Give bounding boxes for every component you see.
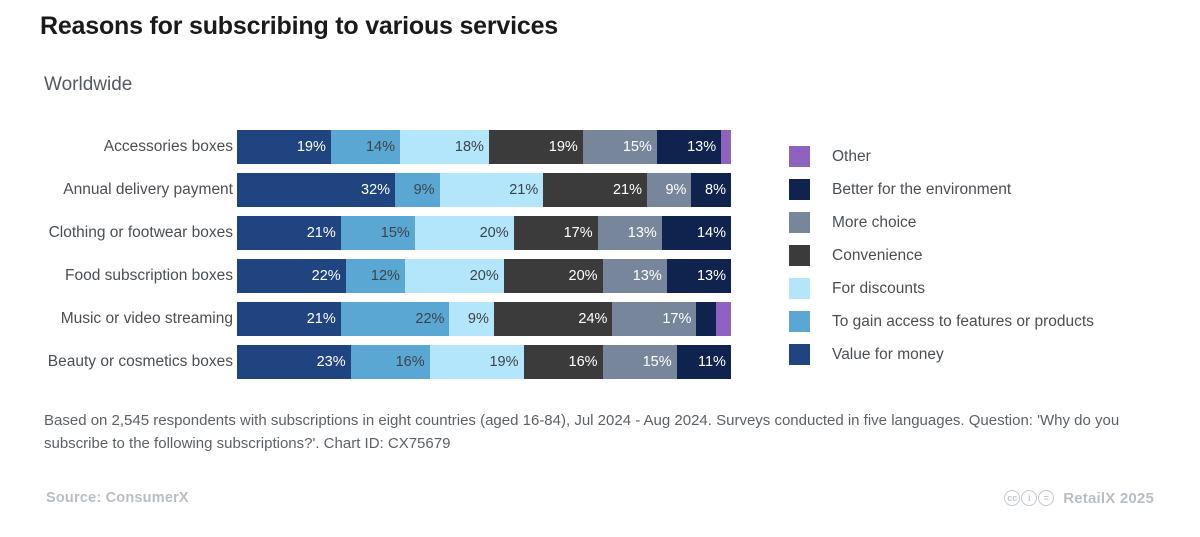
bar-segment: 20% (504, 259, 603, 293)
chart-page: Reasons for subscribing to various servi… (0, 0, 1200, 537)
bar-segment: 16% (351, 345, 430, 379)
bar-segment: 21% (237, 302, 341, 336)
bar-segment: 19% (430, 345, 524, 379)
bar-segment: 32% (237, 173, 395, 207)
legend-label: Other (832, 148, 871, 166)
stacked-bar-chart: Accessories boxes19%14%18%19%15%13%Annua… (0, 130, 760, 392)
page-footer: Source: ConsumerX cci= RetailX 2025 (0, 478, 1200, 518)
bar-segment: 22% (341, 302, 450, 336)
category-label: Accessories boxes (0, 138, 237, 156)
chart-row: Accessories boxes19%14%18%19%15%13% (0, 130, 760, 164)
legend-label: Convenience (832, 247, 922, 265)
bar-segment: 9% (647, 173, 691, 207)
creative-commons-icons: cci= (1004, 490, 1054, 506)
stacked-bar: 21%15%20%17%13%14% (237, 216, 731, 250)
bar-segment: 8% (691, 173, 731, 207)
chart-row: Clothing or footwear boxes21%15%20%17%13… (0, 216, 760, 250)
bar-segment: 17% (514, 216, 598, 250)
bar-segment: 19% (489, 130, 583, 164)
chart-footnote: Based on 2,545 respondents with subscrip… (44, 410, 1134, 455)
page-subtitle: Worldwide (44, 74, 132, 96)
legend-label: Value for money (832, 346, 944, 364)
legend-swatch (789, 245, 810, 266)
legend-swatch (789, 179, 810, 200)
stacked-bar: 22%12%20%20%13%13% (237, 259, 731, 293)
bar-segment: 23% (237, 345, 351, 379)
category-label: Music or video streaming (0, 310, 237, 328)
bar-segment: 9% (449, 302, 493, 336)
bar-segment: 20% (415, 216, 514, 250)
bar-segment: 17% (612, 302, 696, 336)
stacked-bar: 23%16%19%16%15%11% (237, 345, 731, 379)
legend-item[interactable]: More choice (789, 206, 1189, 239)
bar-segment: 14% (662, 216, 731, 250)
page-title: Reasons for subscribing to various servi… (40, 12, 558, 41)
bar-segment: 13% (598, 216, 662, 250)
legend-swatch (789, 344, 810, 365)
bar-segment: 20% (405, 259, 504, 293)
category-label: Food subscription boxes (0, 267, 237, 285)
stacked-bar: 21%22%9%24%17% (237, 302, 731, 336)
legend-swatch (789, 212, 810, 233)
chart-row: Beauty or cosmetics boxes23%16%19%16%15%… (0, 345, 760, 379)
legend-label: More choice (832, 214, 916, 232)
category-label: Beauty or cosmetics boxes (0, 353, 237, 371)
bar-segment: 16% (524, 345, 603, 379)
bar-segment: 21% (237, 216, 341, 250)
bar-segment (721, 130, 731, 164)
bar-segment: 13% (667, 259, 731, 293)
legend-label: For discounts (832, 280, 925, 298)
bar-segment: 19% (237, 130, 331, 164)
bar-segment: 21% (440, 173, 544, 207)
chart-legend: OtherBetter for the environmentMore choi… (789, 140, 1189, 371)
bar-segment: 13% (657, 130, 721, 164)
bar-segment: 9% (395, 173, 439, 207)
source-label: Source: ConsumerX (46, 490, 189, 506)
nd-icon: = (1038, 490, 1054, 506)
legend-item[interactable]: Value for money (789, 338, 1189, 371)
chart-row: Annual delivery payment32%9%21%21%9%8% (0, 173, 760, 207)
bar-segment: 22% (237, 259, 346, 293)
stacked-bar: 19%14%18%19%15%13% (237, 130, 731, 164)
chart-row: Music or video streaming21%22%9%24%17% (0, 302, 760, 336)
legend-swatch (789, 311, 810, 332)
brand-label: RetailX 2025 (1063, 490, 1154, 507)
bar-segment: 15% (341, 216, 415, 250)
chart-row: Food subscription boxes22%12%20%20%13%13… (0, 259, 760, 293)
bar-segment: 15% (583, 130, 657, 164)
legend-label: To gain access to features or products (832, 313, 1094, 331)
legend-item[interactable]: To gain access to features or products (789, 305, 1189, 338)
legend-swatch (789, 278, 810, 299)
bar-segment: 15% (603, 345, 677, 379)
legend-label: Better for the environment (832, 181, 1011, 199)
legend-item[interactable]: Convenience (789, 239, 1189, 272)
bar-segment: 18% (400, 130, 489, 164)
bar-segment: 24% (494, 302, 613, 336)
cc-icon: cc (1004, 490, 1020, 506)
bar-segment: 14% (331, 130, 400, 164)
stacked-bar: 32%9%21%21%9%8% (237, 173, 731, 207)
bar-segment: 12% (346, 259, 405, 293)
category-label: Clothing or footwear boxes (0, 224, 237, 242)
bar-segment (696, 302, 716, 336)
bar-segment: 11% (677, 345, 731, 379)
by-icon: i (1021, 490, 1037, 506)
legend-swatch (789, 146, 810, 167)
category-label: Annual delivery payment (0, 181, 237, 199)
brand-block: cci= RetailX 2025 (1004, 490, 1154, 507)
bar-segment (716, 302, 731, 336)
bar-segment: 13% (603, 259, 667, 293)
legend-item[interactable]: Other (789, 140, 1189, 173)
legend-item[interactable]: For discounts (789, 272, 1189, 305)
bar-segment: 21% (543, 173, 647, 207)
legend-item[interactable]: Better for the environment (789, 173, 1189, 206)
